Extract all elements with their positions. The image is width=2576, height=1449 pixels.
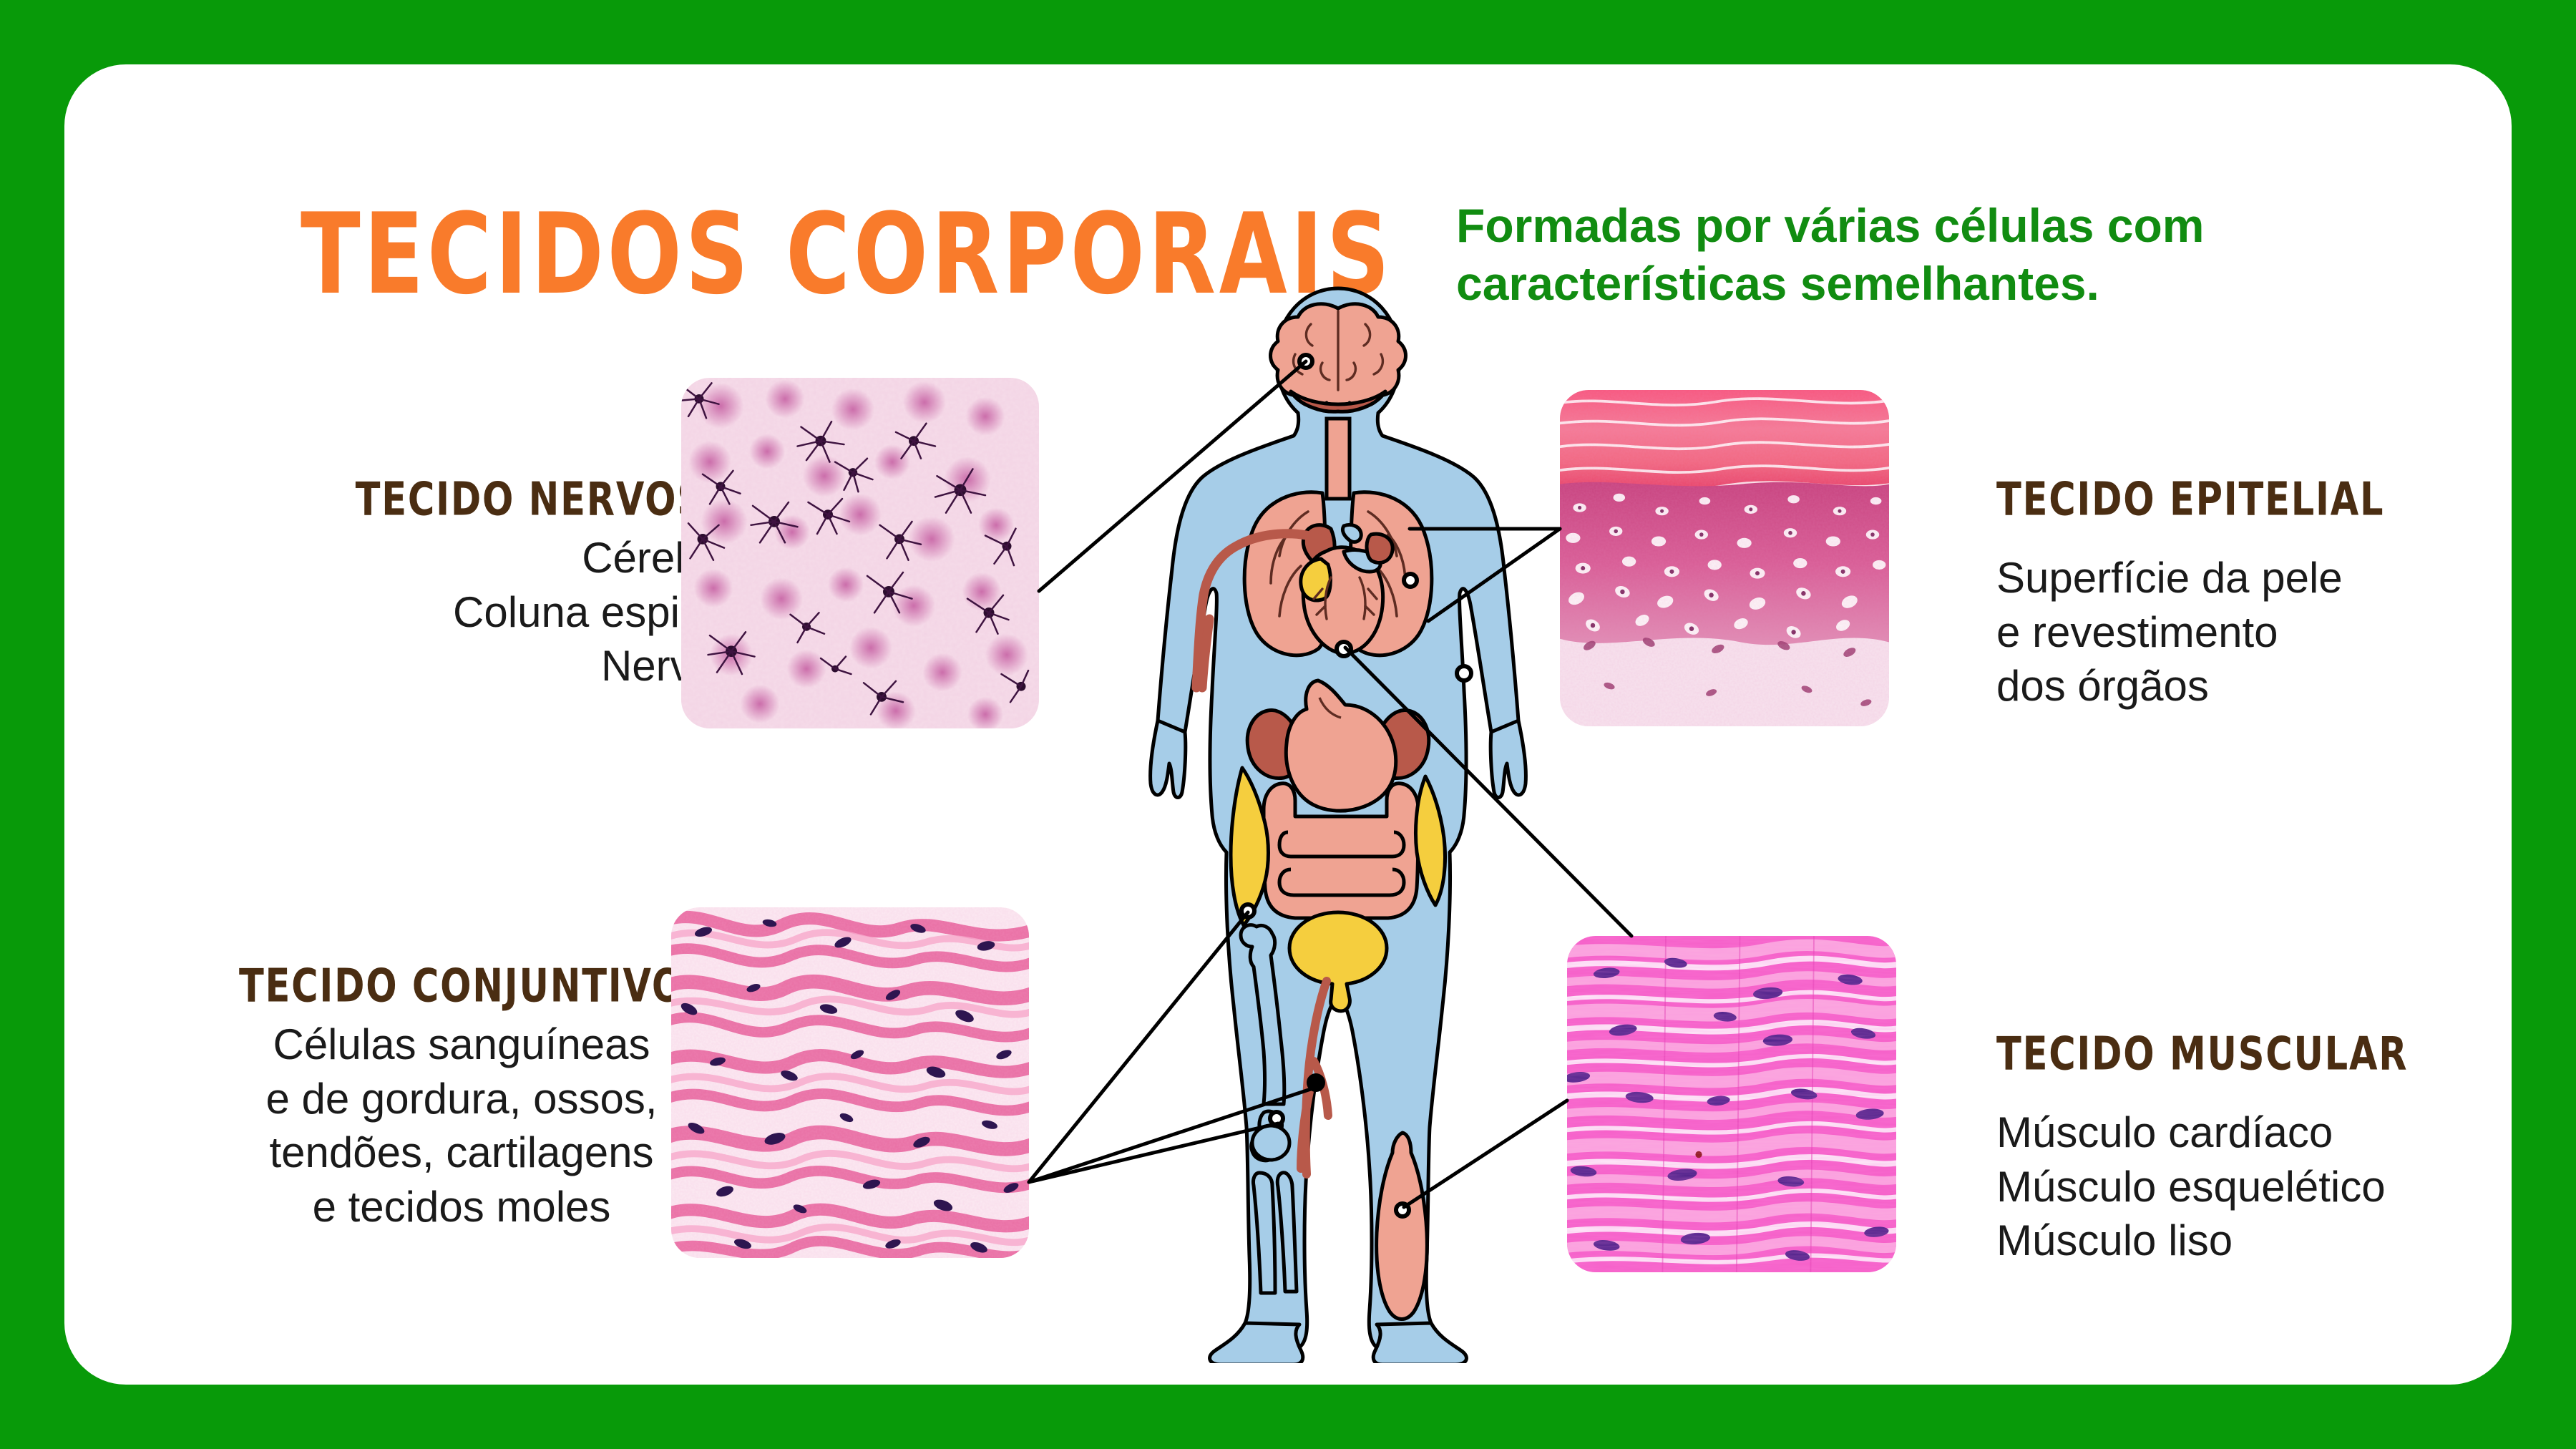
tissue-item: Músculo cardíaco bbox=[1996, 1106, 2576, 1160]
tissue-item: Células sanguíneas bbox=[179, 1018, 744, 1072]
tissue-item: Nervos bbox=[236, 639, 737, 693]
subtitle: Formadas por várias células com caracter… bbox=[1456, 197, 2472, 312]
tissue-item: Superfície da pele bbox=[1996, 551, 2569, 605]
leader-node-bone bbox=[1270, 1112, 1283, 1125]
connective-tissue-micrograph bbox=[671, 907, 1029, 1258]
tissue-items-muscular: Músculo cardíaco Músculo esquelético Mús… bbox=[1996, 1106, 2576, 1268]
leader-node-heart bbox=[1337, 642, 1351, 656]
tissue-items-nervoso: Cérebro Coluna espinal Nervos bbox=[236, 531, 737, 693]
tissue-block-epitelial: TECIDO EPITELIAL Superfície da pele e re… bbox=[1996, 472, 2569, 713]
tissue-block-muscular: TECIDO MUSCULAR Músculo cardíaco Músculo… bbox=[1996, 1027, 2576, 1268]
leader-node-pelvis bbox=[1241, 904, 1254, 917]
tissue-items-epitelial: Superfície da pele e revestimento dos ór… bbox=[1996, 551, 2569, 713]
tissue-item: Músculo esquelético bbox=[1996, 1160, 2576, 1214]
tissue-block-nervoso: TECIDO NERVOSO Cérebro Coluna espinal Ne… bbox=[236, 472, 737, 693]
leader-node-brain bbox=[1299, 355, 1312, 368]
leader-node-muscle bbox=[1396, 1204, 1409, 1216]
tissue-item: tendões, cartilagens bbox=[179, 1126, 744, 1180]
tissue-block-conjuntivo: TECIDO CONJUNTIVO Células sanguíneas e d… bbox=[179, 959, 744, 1234]
subtitle-line-2: características semelhantes. bbox=[1456, 255, 2472, 313]
tissue-item: e revestimento bbox=[1996, 605, 2569, 660]
leader-node-lung bbox=[1404, 574, 1417, 587]
human-body-anatomy-diagram bbox=[1116, 283, 1560, 1363]
tissue-item: e de gordura, ossos, bbox=[179, 1072, 744, 1126]
tissue-item: Músculo liso bbox=[1996, 1214, 2576, 1268]
nervous-tissue-micrograph bbox=[681, 378, 1039, 728]
muscular-tissue-micrograph bbox=[1567, 936, 1896, 1272]
tissue-item: Coluna espinal bbox=[236, 585, 737, 640]
tissue-heading-epitelial: TECIDO EPITELIAL bbox=[1996, 472, 2500, 526]
subtitle-line-1: Formadas por várias células com bbox=[1456, 197, 2472, 255]
tissue-item: Cérebro bbox=[236, 531, 737, 585]
leader-node-skin bbox=[1457, 666, 1471, 680]
tissue-items-conjuntivo: Células sanguíneas e de gordura, ossos, … bbox=[179, 1018, 744, 1234]
epithelial-tissue-micrograph bbox=[1560, 390, 1889, 726]
tissue-item: e tecidos moles bbox=[179, 1180, 744, 1234]
tissue-heading-muscular: TECIDO MUSCULAR bbox=[1996, 1027, 2519, 1080]
tissue-heading-conjuntivo: TECIDO CONJUNTIVO bbox=[213, 959, 710, 1013]
leader-node-artery bbox=[1309, 1075, 1323, 1090]
tissue-heading-nervoso: TECIDO NERVOSO bbox=[296, 472, 737, 526]
tissue-item: dos órgãos bbox=[1996, 659, 2569, 713]
